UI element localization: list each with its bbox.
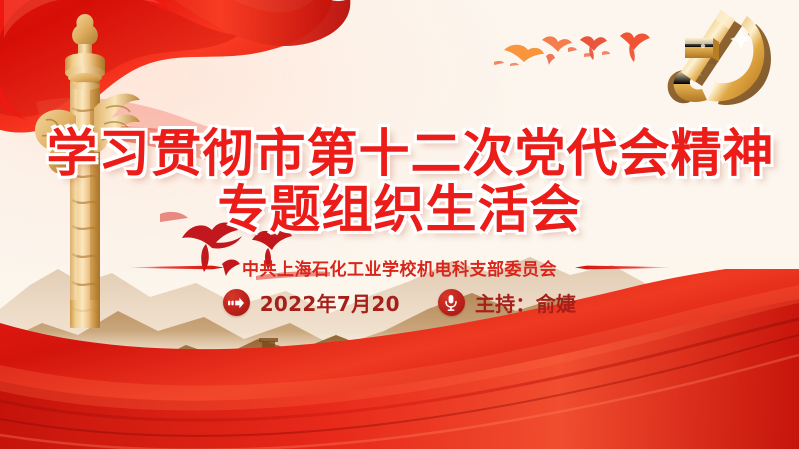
event-date-text: 2022年7月20 <box>260 288 400 317</box>
poster-canvas: 学习贯彻市第十二次党代会精神 专题组织生活会 中共上海石化工业学校机电科支部委员… <box>0 0 799 449</box>
subtitle-text: 中共上海石化工业学校机电科支部委员会 <box>242 255 557 280</box>
meta-item-date: 2022年7月20 <box>223 288 400 317</box>
title-line-1: 学习贯彻市第十二次党代会精神 <box>0 128 799 181</box>
text-content-layer: 学习贯彻市第十二次党代会精神 专题组织生活会 中共上海石化工业学校机电科支部委员… <box>0 0 799 449</box>
decorative-rule-right-icon <box>575 263 671 272</box>
host-text: 主持：俞婕 <box>475 288 577 317</box>
decorative-rule-left-icon <box>128 263 224 272</box>
microphone-icon <box>438 289 465 316</box>
subtitle-row: 中共上海石化工业学校机电科支部委员会 <box>0 255 799 280</box>
meta-item-host: 主持：俞婕 <box>438 288 577 317</box>
page-title: 学习贯彻市第十二次党代会精神 专题组织生活会 <box>0 128 799 237</box>
fast-forward-arrow-icon <box>223 289 250 316</box>
meta-row: 2022年7月20 主持：俞婕 <box>0 288 799 317</box>
title-line-2: 专题组织生活会 <box>0 184 799 237</box>
